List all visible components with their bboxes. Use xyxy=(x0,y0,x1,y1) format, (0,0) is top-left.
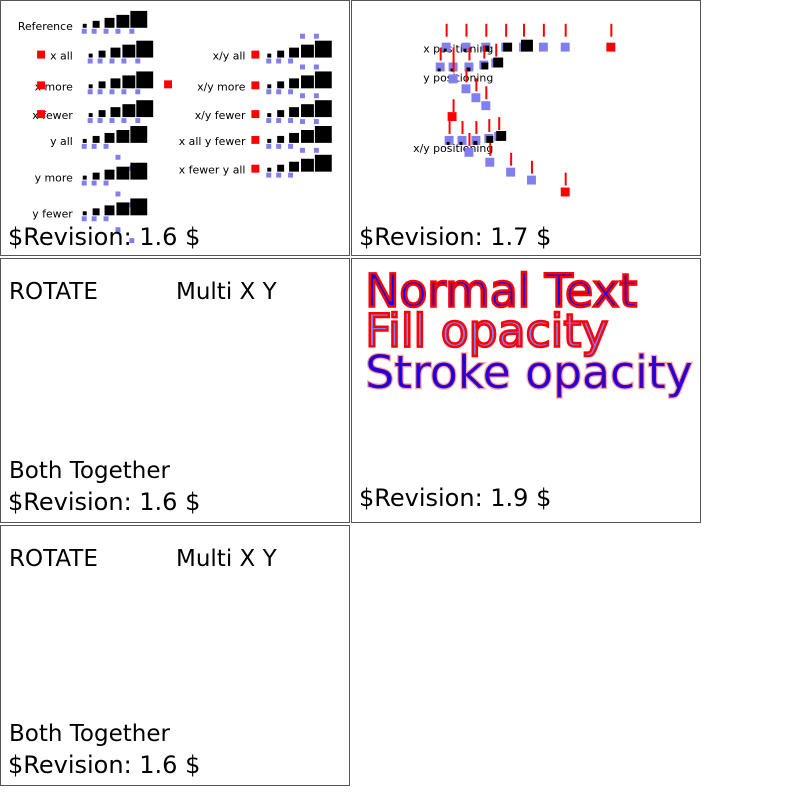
black-glyph-marker xyxy=(83,24,87,28)
blue-anchor-marker xyxy=(288,89,293,94)
blue-anchor-marker xyxy=(276,59,281,64)
row-label-x-y-fewer: x/y fewer xyxy=(195,109,246,122)
red-tick xyxy=(543,24,545,37)
blue-anchor-marker xyxy=(276,118,281,123)
red-tick xyxy=(565,24,567,37)
black-glyph-marker xyxy=(116,15,129,28)
black-glyph-marker xyxy=(301,130,314,143)
black-glyph-marker xyxy=(83,176,87,180)
red-tick xyxy=(523,24,525,37)
blue-anchor-marker xyxy=(121,89,126,94)
blue-anchor-marker xyxy=(88,118,93,123)
blue-anchor-marker xyxy=(82,144,87,149)
red-tick xyxy=(462,121,464,134)
blue-anchor-marker xyxy=(115,155,120,160)
black-glyph-marker xyxy=(315,100,332,117)
revision-label: $Revision: 1.6 $ xyxy=(8,223,200,251)
red-extra-marker xyxy=(251,81,259,89)
red-tick xyxy=(465,24,467,37)
black-glyph-marker xyxy=(301,104,314,117)
blue-anchor-marker xyxy=(104,181,109,186)
black-glyph-marker xyxy=(521,40,533,52)
black-glyph-marker xyxy=(301,75,314,88)
blue-anchor-marker xyxy=(481,101,490,110)
blue-anchor-marker xyxy=(98,59,103,64)
blue-anchor-marker xyxy=(300,93,305,98)
blue-anchor-marker xyxy=(98,89,103,94)
blue-anchor-marker xyxy=(288,59,293,64)
black-glyph-marker xyxy=(136,41,153,58)
blue-anchor-marker xyxy=(135,89,140,94)
blue-anchor-marker xyxy=(88,89,93,94)
blue-anchor-marker xyxy=(115,29,120,34)
red-extra-marker xyxy=(37,110,45,118)
black-glyph-marker xyxy=(99,110,106,117)
revision-label: $Revision: 1.7 $ xyxy=(359,223,551,251)
black-glyph-marker xyxy=(122,45,135,58)
blue-anchor-marker xyxy=(449,74,458,83)
red-tick xyxy=(483,46,485,59)
blue-anchor-marker xyxy=(276,89,281,94)
blue-anchor-marker xyxy=(288,118,293,123)
blue-anchor-marker xyxy=(462,84,471,93)
blue-anchor-marker xyxy=(92,29,97,34)
blue-anchor-marker xyxy=(135,59,140,64)
black-glyph-marker xyxy=(136,100,153,117)
black-glyph-marker xyxy=(99,51,106,58)
black-glyph-marker xyxy=(493,58,503,68)
red-tick xyxy=(489,143,491,156)
red-tick xyxy=(495,44,497,57)
black-glyph-marker xyxy=(460,142,463,145)
red-tick xyxy=(449,121,451,134)
blue-anchor-marker xyxy=(314,119,319,124)
red-tick xyxy=(488,119,490,132)
blue-anchor-marker xyxy=(485,158,494,167)
black-glyph-marker xyxy=(503,43,512,52)
black-glyph-marker xyxy=(130,198,147,215)
caption-both-together: Both Together xyxy=(9,721,170,747)
blue-anchor-marker xyxy=(506,168,515,177)
blue-anchor-marker xyxy=(314,65,319,70)
blue-anchor-marker xyxy=(266,89,271,94)
blue-anchor-marker xyxy=(300,65,305,70)
caption-rotate: ROTATE xyxy=(9,279,98,305)
black-glyph-marker xyxy=(116,130,129,143)
black-glyph-marker xyxy=(289,48,299,58)
blue-anchor-marker xyxy=(314,34,319,39)
red-tick xyxy=(510,153,512,166)
black-glyph-marker xyxy=(496,131,506,141)
row-label-reference: Reference xyxy=(18,20,73,33)
black-glyph-marker xyxy=(105,170,115,180)
blue-anchor-marker xyxy=(92,216,97,221)
blue-anchor-marker xyxy=(266,118,271,123)
row-label-y-positioning: y positioning xyxy=(423,71,493,84)
black-glyph-marker xyxy=(473,141,477,145)
caption-multi-x-y: Multi X Y xyxy=(176,279,277,305)
black-glyph-marker xyxy=(277,81,284,88)
black-glyph-marker xyxy=(99,81,106,88)
black-glyph-marker xyxy=(277,51,284,58)
black-glyph-marker xyxy=(93,173,100,180)
blue-anchor-marker xyxy=(121,59,126,64)
red-tick xyxy=(505,24,507,37)
black-glyph-marker xyxy=(89,113,93,117)
black-glyph-marker xyxy=(267,113,271,117)
black-glyph-marker xyxy=(481,63,488,70)
black-glyph-marker xyxy=(130,163,147,180)
red-tick xyxy=(465,69,467,82)
red-tick xyxy=(440,48,442,61)
revision-label: $Revision: 1.6 $ xyxy=(8,751,200,779)
caption-both-together: Both Together xyxy=(9,458,170,484)
blue-anchor-marker xyxy=(527,176,536,185)
black-glyph-marker xyxy=(105,205,115,215)
blue-anchor-marker xyxy=(314,148,319,153)
red-tick xyxy=(475,121,477,134)
caption-rotate: ROTATE xyxy=(9,546,98,572)
blue-anchor-marker xyxy=(88,59,93,64)
red-tick xyxy=(468,48,470,61)
caption-multi-x-y: Multi X Y xyxy=(176,546,277,572)
blue-anchor-marker xyxy=(288,144,293,149)
blue-anchor-marker xyxy=(82,216,87,221)
blue-anchor-marker xyxy=(98,118,103,123)
panel-text-positioning-2: x positioningy positioningx/y positionin… xyxy=(351,0,701,256)
blue-anchor-marker xyxy=(104,29,109,34)
black-glyph-marker xyxy=(315,155,332,172)
blue-anchor-marker xyxy=(471,93,480,102)
blue-anchor-marker xyxy=(300,119,305,124)
revision-label: $Revision: 1.6 $ xyxy=(8,488,200,516)
blue-anchor-marker xyxy=(121,118,126,123)
blue-anchor-marker xyxy=(266,59,271,64)
blue-anchor-marker xyxy=(276,144,281,149)
blue-anchor-marker xyxy=(104,144,109,149)
black-glyph-marker xyxy=(315,41,332,58)
screenshot-root: Referencex allx morex fewery ally morey … xyxy=(0,0,800,800)
red-tick xyxy=(468,133,470,146)
blue-anchor-marker xyxy=(110,89,115,94)
red-extra-marker xyxy=(561,188,570,197)
text-stroke-opacity: Stroke opacity xyxy=(365,346,692,399)
black-glyph-marker xyxy=(93,136,100,143)
panel-text-rotate-2: ROTATE Multi X Y Both Together $Revision… xyxy=(0,525,350,786)
red-tick xyxy=(531,161,533,174)
blue-anchor-marker xyxy=(110,118,115,123)
black-glyph-marker xyxy=(438,68,441,71)
red-tick xyxy=(453,99,455,112)
blue-anchor-marker xyxy=(110,59,115,64)
red-extra-marker xyxy=(164,80,172,88)
black-glyph-marker xyxy=(116,167,129,180)
black-glyph-marker xyxy=(93,21,100,28)
blue-anchor-marker xyxy=(104,216,109,221)
red-tick xyxy=(453,48,455,61)
black-glyph-marker xyxy=(105,18,115,28)
black-glyph-marker xyxy=(83,139,87,143)
black-glyph-marker xyxy=(267,139,271,143)
red-tick xyxy=(610,24,612,37)
black-glyph-marker xyxy=(89,84,93,88)
black-glyph-marker xyxy=(89,54,93,58)
blue-anchor-marker xyxy=(115,192,120,197)
panel-text-positioning-1: Referencex allx morex fewery ally morey … xyxy=(0,0,350,256)
black-glyph-marker xyxy=(289,107,299,117)
revision-label: $Revision: 1.9 $ xyxy=(359,484,551,512)
red-extra-marker xyxy=(37,81,45,89)
black-glyph-marker xyxy=(301,159,314,172)
blue-anchor-marker xyxy=(561,43,570,52)
red-tick xyxy=(453,60,455,73)
row-label-x-all-y-fewer: x all y fewer xyxy=(179,135,246,148)
black-glyph-marker xyxy=(122,75,135,88)
row-label-y-all: y all xyxy=(50,135,73,148)
red-extra-marker xyxy=(606,43,615,52)
panel-text-rotate-1: ROTATE Multi X Y Both Together $Revision… xyxy=(0,258,350,523)
black-glyph-marker xyxy=(301,45,314,58)
black-glyph-marker xyxy=(444,49,447,52)
blue-anchor-marker xyxy=(92,144,97,149)
black-glyph-marker xyxy=(447,142,450,145)
text-opacity-canvas: Normal Text Fill opacity Stroke opacity xyxy=(352,259,700,522)
red-tick xyxy=(498,117,500,130)
blue-anchor-marker xyxy=(288,173,293,178)
blue-anchor-marker xyxy=(135,118,140,123)
red-extra-marker xyxy=(251,110,259,118)
black-glyph-marker xyxy=(289,78,299,88)
row-label-x-fewer-y-all: x fewer y all xyxy=(179,164,246,177)
black-glyph-marker xyxy=(289,133,299,143)
blue-anchor-marker xyxy=(82,29,87,34)
black-glyph-marker xyxy=(315,126,332,143)
black-glyph-marker xyxy=(267,54,271,58)
blue-anchor-marker xyxy=(300,34,305,39)
red-tick xyxy=(485,86,487,99)
red-extra-marker xyxy=(37,51,45,59)
blue-anchor-marker xyxy=(539,43,548,52)
black-glyph-marker xyxy=(111,48,121,58)
black-glyph-marker xyxy=(136,71,153,88)
black-glyph-marker xyxy=(289,162,299,172)
blue-anchor-marker xyxy=(82,181,87,186)
black-glyph-marker xyxy=(486,136,493,143)
row-label-x-y-all: x/y all xyxy=(213,50,246,63)
text-positioning-1-canvas: Referencex allx morex fewery ally morey … xyxy=(1,1,349,255)
blue-anchor-marker xyxy=(266,144,271,149)
black-glyph-marker xyxy=(93,208,100,215)
red-extra-marker xyxy=(251,165,259,173)
text-positioning-2-canvas: x positioningy positioningx/y positionin… xyxy=(352,1,700,255)
red-extra-marker xyxy=(251,51,259,59)
blue-anchor-marker xyxy=(266,173,271,178)
blue-anchor-marker xyxy=(314,93,319,98)
black-glyph-marker xyxy=(130,126,147,143)
blue-anchor-marker xyxy=(300,148,305,153)
black-glyph-marker xyxy=(111,107,121,117)
black-glyph-marker xyxy=(277,165,284,172)
red-tick xyxy=(485,24,487,37)
red-tick xyxy=(446,24,448,37)
red-tick xyxy=(475,78,477,91)
black-glyph-marker xyxy=(463,49,466,52)
black-glyph-marker xyxy=(267,84,271,88)
black-glyph-marker xyxy=(105,133,115,143)
panel-text-opacity: Normal Text Fill opacity Stroke opacity … xyxy=(351,258,701,523)
blue-anchor-marker xyxy=(129,29,134,34)
red-tick xyxy=(565,173,567,186)
blue-anchor-marker xyxy=(464,148,473,157)
row-label-y-fewer: y fewer xyxy=(32,207,73,220)
row-label-x-y-more: x/y more xyxy=(197,80,246,93)
row-label-y-more: y more xyxy=(35,172,73,185)
black-glyph-marker xyxy=(130,11,147,28)
black-glyph-marker xyxy=(315,71,332,88)
black-glyph-marker xyxy=(111,78,121,88)
black-glyph-marker xyxy=(116,202,129,215)
blue-anchor-marker xyxy=(276,173,281,178)
blue-anchor-marker xyxy=(92,181,97,186)
row-label-x-all: x all xyxy=(50,50,73,63)
black-glyph-marker xyxy=(277,110,284,117)
black-glyph-marker xyxy=(277,136,284,143)
red-extra-marker xyxy=(448,112,457,121)
black-glyph-marker xyxy=(122,104,135,117)
black-glyph-marker xyxy=(83,211,87,215)
black-glyph-marker xyxy=(267,168,271,172)
red-extra-marker xyxy=(251,136,259,144)
